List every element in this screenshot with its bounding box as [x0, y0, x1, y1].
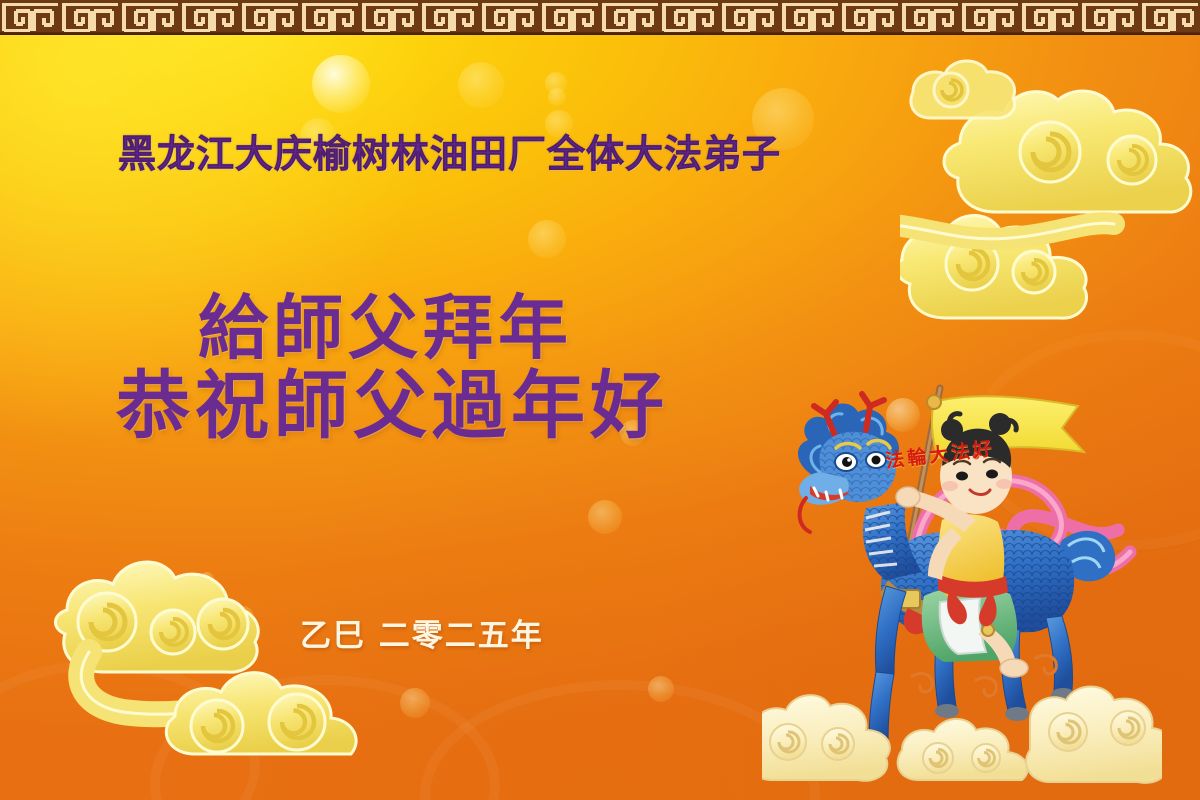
- greeting-card: 黑龙江大庆榆树林油田厂全体大法弟子 給師父拜年 恭祝師父過年好 乙巳 二零二五年: [0, 0, 1200, 800]
- organization-line: 黑龙江大庆榆树林油田厂全体大法弟子: [118, 133, 781, 177]
- greeting-line-2: 恭祝師父過年好: [116, 346, 669, 453]
- meander-border: [0, 0, 1200, 35]
- date-line: 乙巳 二零二五年: [300, 610, 544, 655]
